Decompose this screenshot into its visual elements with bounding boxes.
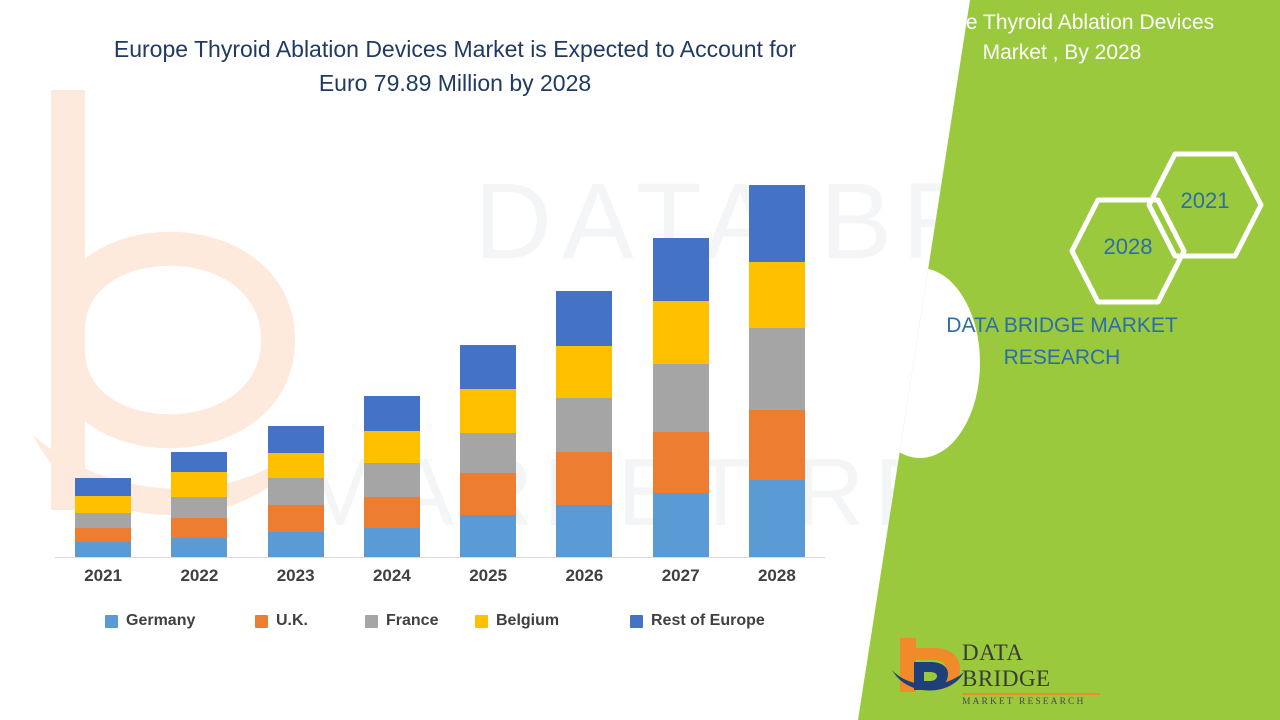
bar-segment-2021-belgium [75, 496, 131, 513]
chart-title: Europe Thyroid Ablation Devices Market i… [60, 32, 850, 100]
brand-logo-text: DATA BRIDGE MARKET RESEARCH [962, 640, 1112, 707]
bar-segment-2025-germany [460, 515, 516, 557]
panel-subtitle-line-2: RESEARCH [862, 342, 1262, 374]
bar-segment-2022-u-k [171, 518, 227, 538]
bar-segment-2027-germany [653, 493, 709, 557]
bar-segment-2022-rest-of-europe [171, 452, 227, 472]
bar-segment-2023-u-k [268, 505, 324, 532]
panel-subtitle-line-1: DATA BRIDGE MARKET [862, 310, 1262, 342]
legend-item-germany[interactable]: Germany [105, 612, 195, 630]
bar-2023 [268, 426, 324, 557]
bar-segment-2021-germany [75, 542, 131, 557]
legend-label: Germany [126, 612, 195, 630]
bar-segment-2027-france [653, 364, 709, 433]
bar-segment-2023-rest-of-europe [268, 426, 324, 453]
bar-segment-2027-rest-of-europe [653, 238, 709, 301]
hexagon-2021: 2021 [1145, 150, 1265, 260]
brand-logo-rule [962, 693, 1100, 695]
bar-segment-2026-rest-of-europe [556, 291, 612, 346]
bar-2026 [556, 291, 612, 557]
legend-label: Rest of Europe [651, 612, 765, 630]
bar-segment-2025-rest-of-europe [460, 345, 516, 389]
bar-segment-2023-france [268, 478, 324, 505]
x-axis-labels: 20212022202320242025202620272028 [55, 566, 825, 596]
legend-swatch-icon [475, 615, 488, 628]
bar-segment-2024-france [364, 463, 420, 497]
bar-segment-2024-belgium [364, 431, 420, 463]
x-axis-label-2025: 2025 [440, 566, 536, 586]
bar-2021 [75, 478, 131, 557]
x-axis-label-2024: 2024 [344, 566, 440, 586]
bar-segment-2022-belgium [171, 472, 227, 497]
bar-segment-2023-belgium [268, 453, 324, 478]
bar-2025 [460, 345, 516, 557]
brand-logo-sub: MARKET RESEARCH [962, 697, 1112, 707]
bar-segment-2028-rest-of-europe [749, 185, 805, 262]
panel-title: Europe Thyroid Ablation Devices Market ,… [862, 8, 1262, 68]
bar-segment-2026-germany [556, 505, 612, 557]
chart-legend: GermanyU.K.FranceBelgiumRest of Europe [55, 612, 825, 640]
legend-label: U.K. [276, 612, 308, 630]
legend-item-france[interactable]: France [365, 612, 438, 630]
bar-segment-2026-belgium [556, 346, 612, 398]
x-axis-label-2022: 2022 [151, 566, 247, 586]
legend-swatch-icon [255, 615, 268, 628]
x-axis-line [55, 557, 825, 558]
bar-segment-2028-germany [749, 480, 805, 557]
chart-title-line-1: Europe Thyroid Ablation Devices Market i… [60, 32, 850, 66]
bar-segment-2022-france [171, 497, 227, 518]
hexagon-2021-label: 2021 [1145, 188, 1265, 214]
brand-logo-main: DATA BRIDGE [962, 640, 1112, 692]
infographic-canvas: DATA BRIDGE MARKET RESEARCH Europe Thyro… [0, 0, 1280, 720]
x-axis-label-2021: 2021 [55, 566, 151, 586]
legend-label: France [386, 612, 438, 630]
legend-item-belgium[interactable]: Belgium [475, 612, 559, 630]
legend-swatch-icon [630, 615, 643, 628]
x-axis-label-2028: 2028 [729, 566, 825, 586]
bar-2024 [364, 396, 420, 557]
bar-segment-2027-u-k [653, 432, 709, 493]
bar-segment-2024-u-k [364, 497, 420, 528]
legend-swatch-icon [365, 615, 378, 628]
bar-segment-2026-u-k [556, 452, 612, 505]
bar-2028 [749, 185, 805, 557]
bar-2022 [171, 452, 227, 557]
bar-segment-2028-u-k [749, 410, 805, 480]
legend-item-rest-of-europe[interactable]: Rest of Europe [630, 612, 765, 630]
bar-segment-2023-germany [268, 532, 324, 557]
bar-segment-2021-rest-of-europe [75, 478, 131, 496]
stacked-bar-chart [55, 120, 825, 557]
bar-segment-2024-germany [364, 528, 420, 557]
bar-segment-2025-belgium [460, 389, 516, 433]
bar-segment-2025-france [460, 433, 516, 473]
bar-segment-2028-france [749, 328, 805, 410]
bar-segment-2027-belgium [653, 301, 709, 364]
bar-segment-2021-france [75, 513, 131, 528]
panel-title-line-2: Market , By 2028 [862, 38, 1262, 68]
panel-title-line-1: Europe Thyroid Ablation Devices [862, 8, 1262, 38]
legend-label: Belgium [496, 612, 559, 630]
bar-segment-2022-germany [171, 538, 227, 557]
bar-segment-2021-u-k [75, 528, 131, 542]
chart-title-line-2: Euro 79.89 Million by 2028 [60, 66, 850, 100]
x-axis-label-2027: 2027 [633, 566, 729, 586]
hexagon-group: 2028 2021 [840, 150, 1280, 310]
legend-item-u-k[interactable]: U.K. [255, 612, 308, 630]
bar-segment-2025-u-k [460, 473, 516, 515]
panel-subtitle: DATA BRIDGE MARKET RESEARCH [862, 310, 1262, 374]
bar-2027 [653, 238, 709, 557]
bar-segment-2024-rest-of-europe [364, 396, 420, 431]
x-axis-label-2023: 2023 [248, 566, 344, 586]
bar-segment-2028-belgium [749, 262, 805, 328]
x-axis-label-2026: 2026 [536, 566, 632, 586]
bar-segment-2026-france [556, 398, 612, 452]
legend-swatch-icon [105, 615, 118, 628]
